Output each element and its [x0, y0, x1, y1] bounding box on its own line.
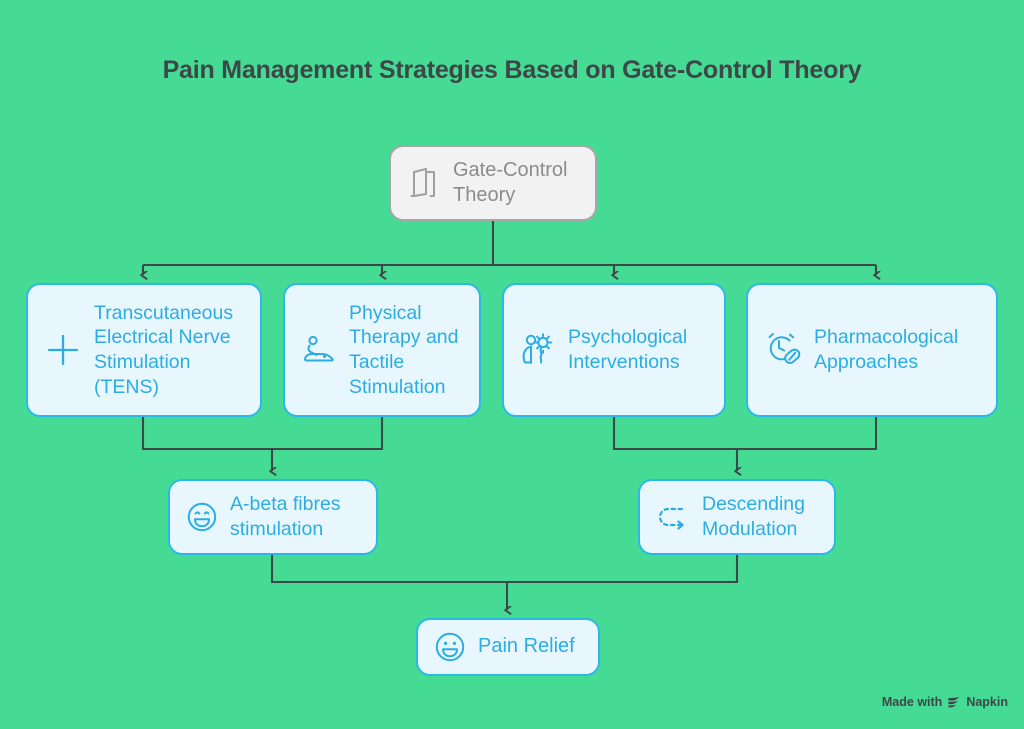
napkin-logo-icon [947, 695, 961, 709]
smiley-open-mouth-icon [434, 631, 466, 663]
node-label: Transcutaneous Electrical Nerve Stimulat… [94, 301, 233, 399]
node-label: Physical Therapy and Tactile Stimulation [349, 301, 459, 399]
node-label: Descending Modulation [702, 492, 805, 541]
clock-pill-icon [764, 331, 802, 369]
node-pharmacological-approaches[interactable]: Pharmacological Approaches [746, 283, 998, 417]
node-label: Pharmacological Approaches [814, 325, 958, 374]
watermark-brand: Napkin [966, 695, 1008, 709]
gate-door-icon [407, 166, 441, 200]
node-label: A-beta fibres stimulation [230, 492, 341, 541]
node-physical-therapy[interactable]: Physical Therapy and Tactile Stimulation [283, 283, 481, 417]
node-pain-relief[interactable]: Pain Relief [416, 618, 600, 676]
node-gate-control-theory[interactable]: Gate-Control Theory [389, 145, 597, 221]
node-label: Psychological Interventions [568, 325, 687, 374]
head-gear-icon [520, 332, 556, 368]
node-psychological-interventions[interactable]: Psychological Interventions [502, 283, 726, 417]
diagram-canvas: Pain Management Strategies Based on Gate… [0, 0, 1024, 729]
dashed-uturn-arrow-icon [656, 501, 690, 533]
napkin-watermark: Made with Napkin [882, 695, 1008, 709]
node-tens[interactable]: Transcutaneous Electrical Nerve Stimulat… [26, 283, 262, 417]
watermark-prefix: Made with [882, 695, 942, 709]
massage-therapy-icon [301, 332, 337, 368]
plus-icon [44, 331, 82, 369]
node-label: Pain Relief [478, 634, 575, 659]
smiley-grin-icon [186, 501, 218, 533]
node-abeta-fibres-stimulation[interactable]: A-beta fibres stimulation [168, 479, 378, 555]
node-descending-modulation[interactable]: Descending Modulation [638, 479, 836, 555]
node-label: Gate-Control Theory [453, 158, 568, 208]
